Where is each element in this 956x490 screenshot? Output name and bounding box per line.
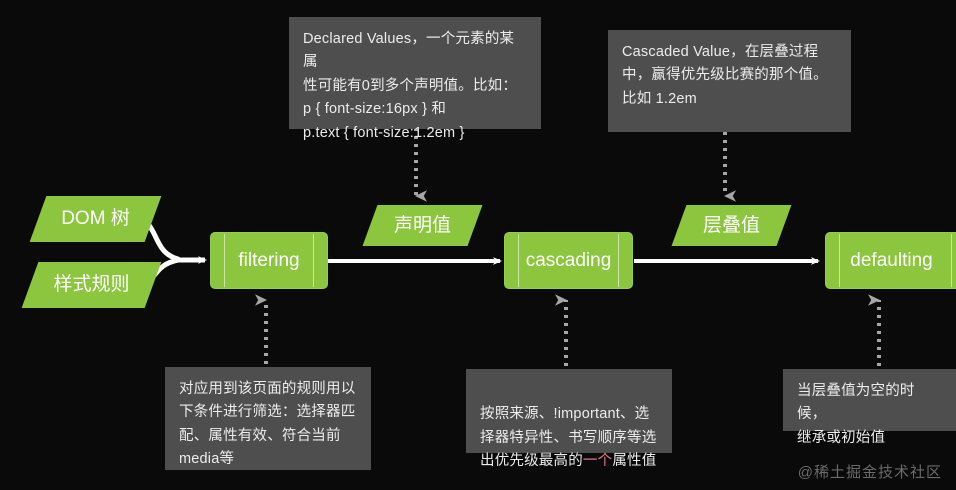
stage-defaulting-label: defaulting [850,250,932,272]
value-cascaded-label: 层叠值 [679,205,784,246]
input-style-rules-label: 样式规则 [30,262,153,308]
watermark: @稀土掘金技术社区 [798,461,942,482]
input-dom-tree: DOM 树 [30,196,162,242]
stage-filtering[interactable]: filtering [210,232,328,289]
input-style-rules: 样式规则 [22,262,162,308]
note-cascaded-value: Cascaded Value，在层叠过程 中，赢得优先级比赛的那个值。 比如 1… [608,30,851,132]
note-filtering: 对应用到该页面的规则用以 下条件进行筛选：选择器匹 配、属性有效、符合当前 me… [165,367,371,470]
stage-filtering-label: filtering [238,250,299,272]
input-dom-tree-label: DOM 树 [38,196,153,242]
diagram-canvas: Declared Values，一个元素的某属 性可能有0到多个声明值。比如： … [0,0,956,490]
note-cascading-highlight: 一个 [583,453,612,469]
stage-defaulting[interactable]: defaulting [825,232,956,289]
stage-cascading-label: cascading [526,250,612,272]
note-defaulting: 当层叠值为空的时候， 继承或初始值 [783,369,956,431]
stage-cascading[interactable]: cascading [504,232,633,289]
value-declared-label: 声明值 [370,205,475,246]
value-declared: 声明值 [363,205,483,246]
note-cascading-text-b: 属性值 [612,453,656,469]
value-cascaded: 层叠值 [672,205,792,246]
note-declared-values: Declared Values，一个元素的某属 性可能有0到多个声明值。比如： … [289,17,541,129]
note-cascading: 按照来源、!important、选 择器特异性、书写顺序等选 出优先级最高的一个… [466,369,672,453]
